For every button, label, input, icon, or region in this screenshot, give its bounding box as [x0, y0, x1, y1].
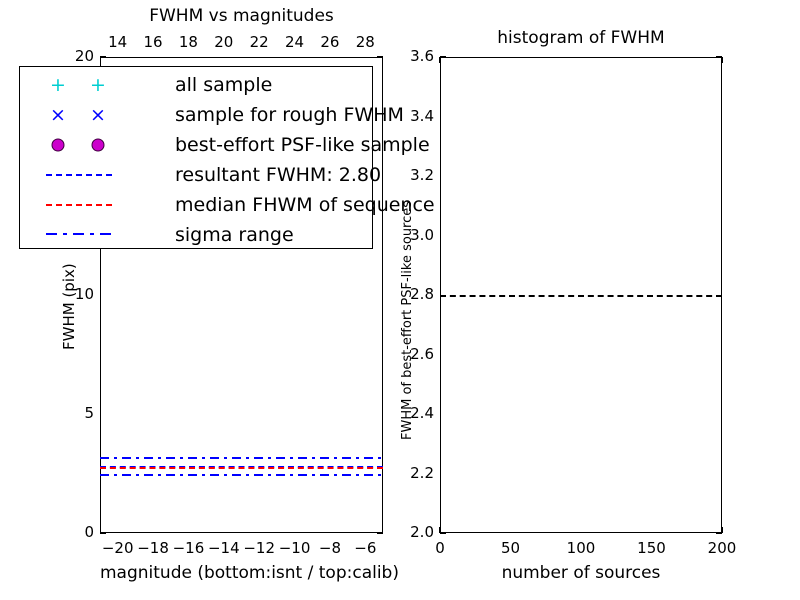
- left-panel-y-ticklabel: 20: [54, 47, 94, 65]
- circle-marker-icon: [52, 139, 65, 152]
- dashdot-line-icon: [46, 233, 112, 235]
- legend-row: median FHWM of sequence: [20, 190, 372, 220]
- figure-canvas: FWHM vs magnitudes 1416182022242628 −20−…: [0, 0, 800, 600]
- reference-line-median-fhwm-of-sequence: [100, 467, 383, 469]
- right-panel-x-ticklabel: 50: [486, 539, 536, 557]
- reference-line-sigma-upper: [100, 457, 383, 459]
- legend-row: sigma range: [20, 220, 372, 250]
- legend-marker-slot: [20, 190, 170, 220]
- left-panel-top-ticklabel: 22: [239, 33, 279, 51]
- histogram-median-line: [440, 295, 722, 297]
- right-panel-xlabel: number of sources: [440, 563, 722, 583]
- legend-label: median FHWM of sequence: [175, 190, 435, 220]
- plus-icon: +: [50, 70, 66, 100]
- legend-label: resultant FWHM: 2.80: [175, 160, 381, 190]
- legend-marker-slot: ××: [20, 100, 170, 130]
- right-panel-x-ticklabel: 150: [627, 539, 677, 557]
- cross-icon: ×: [50, 100, 66, 130]
- legend-row: resultant FWHM: 2.80: [20, 160, 372, 190]
- circle-marker-icon: [92, 139, 105, 152]
- left-panel-top-ticklabel: 18: [168, 33, 208, 51]
- legend-label: sigma range: [175, 220, 294, 250]
- right-panel-y-ticklabel: 3.6: [388, 47, 434, 65]
- right-panel-ylabel: FWHM of best-effort PSF-like sources: [400, 201, 415, 440]
- left-panel-top-ticklabel: 16: [133, 33, 173, 51]
- right-panel-y-ticklabel: 3.2: [388, 166, 434, 184]
- dashed-line-icon: [46, 174, 112, 176]
- legend-row: ××sample for rough FWHM: [20, 100, 372, 130]
- legend-label: all sample: [175, 70, 272, 100]
- legend-label: best-effort PSF-like sample: [175, 130, 430, 160]
- right-panel-x-ticklabel: 200: [697, 539, 747, 557]
- legend: ++all sample××sample for rough FWHMbest-…: [19, 66, 373, 249]
- left-panel-xlabel: magnitude (bottom:isnt / top:calib): [100, 563, 383, 583]
- reference-line-sigma-lower: [100, 474, 383, 476]
- left-panel-top-ticklabel: 20: [204, 33, 244, 51]
- legend-marker-slot: [20, 220, 170, 250]
- legend-row: best-effort PSF-like sample: [20, 130, 372, 160]
- right-panel-title: histogram of FWHM: [440, 28, 722, 48]
- legend-marker-slot: ++: [20, 70, 170, 100]
- legend-marker-slot: [20, 160, 170, 190]
- right-panel-x-ticklabel: 100: [556, 539, 606, 557]
- legend-row: ++all sample: [20, 70, 372, 100]
- right-panel-y-ticklabel: 2.0: [388, 523, 434, 541]
- cross-icon: ×: [90, 100, 106, 130]
- dashed-line-icon: [46, 204, 112, 206]
- right-panel-x-ticklabel: 0: [415, 539, 465, 557]
- left-panel-top-ticklabel: 28: [345, 33, 385, 51]
- left-panel-top-ticklabel: 14: [98, 33, 138, 51]
- left-panel-bottom-ticklabel: −6: [343, 539, 387, 557]
- left-panel-ylabel: FWHM (pix): [60, 263, 78, 350]
- legend-label: sample for rough FWHM: [175, 100, 404, 130]
- left-panel-top-ticklabel: 24: [275, 33, 315, 51]
- left-panel-top-ticklabel: 26: [310, 33, 350, 51]
- right-panel-y-ticklabel: 2.2: [388, 464, 434, 482]
- legend-marker-slot: [20, 130, 170, 160]
- plus-icon: +: [90, 70, 106, 100]
- left-panel-y-ticklabel: 5: [54, 404, 94, 422]
- left-panel-y-ticklabel: 0: [54, 523, 94, 541]
- left-panel-title: FWHM vs magnitudes: [100, 6, 383, 26]
